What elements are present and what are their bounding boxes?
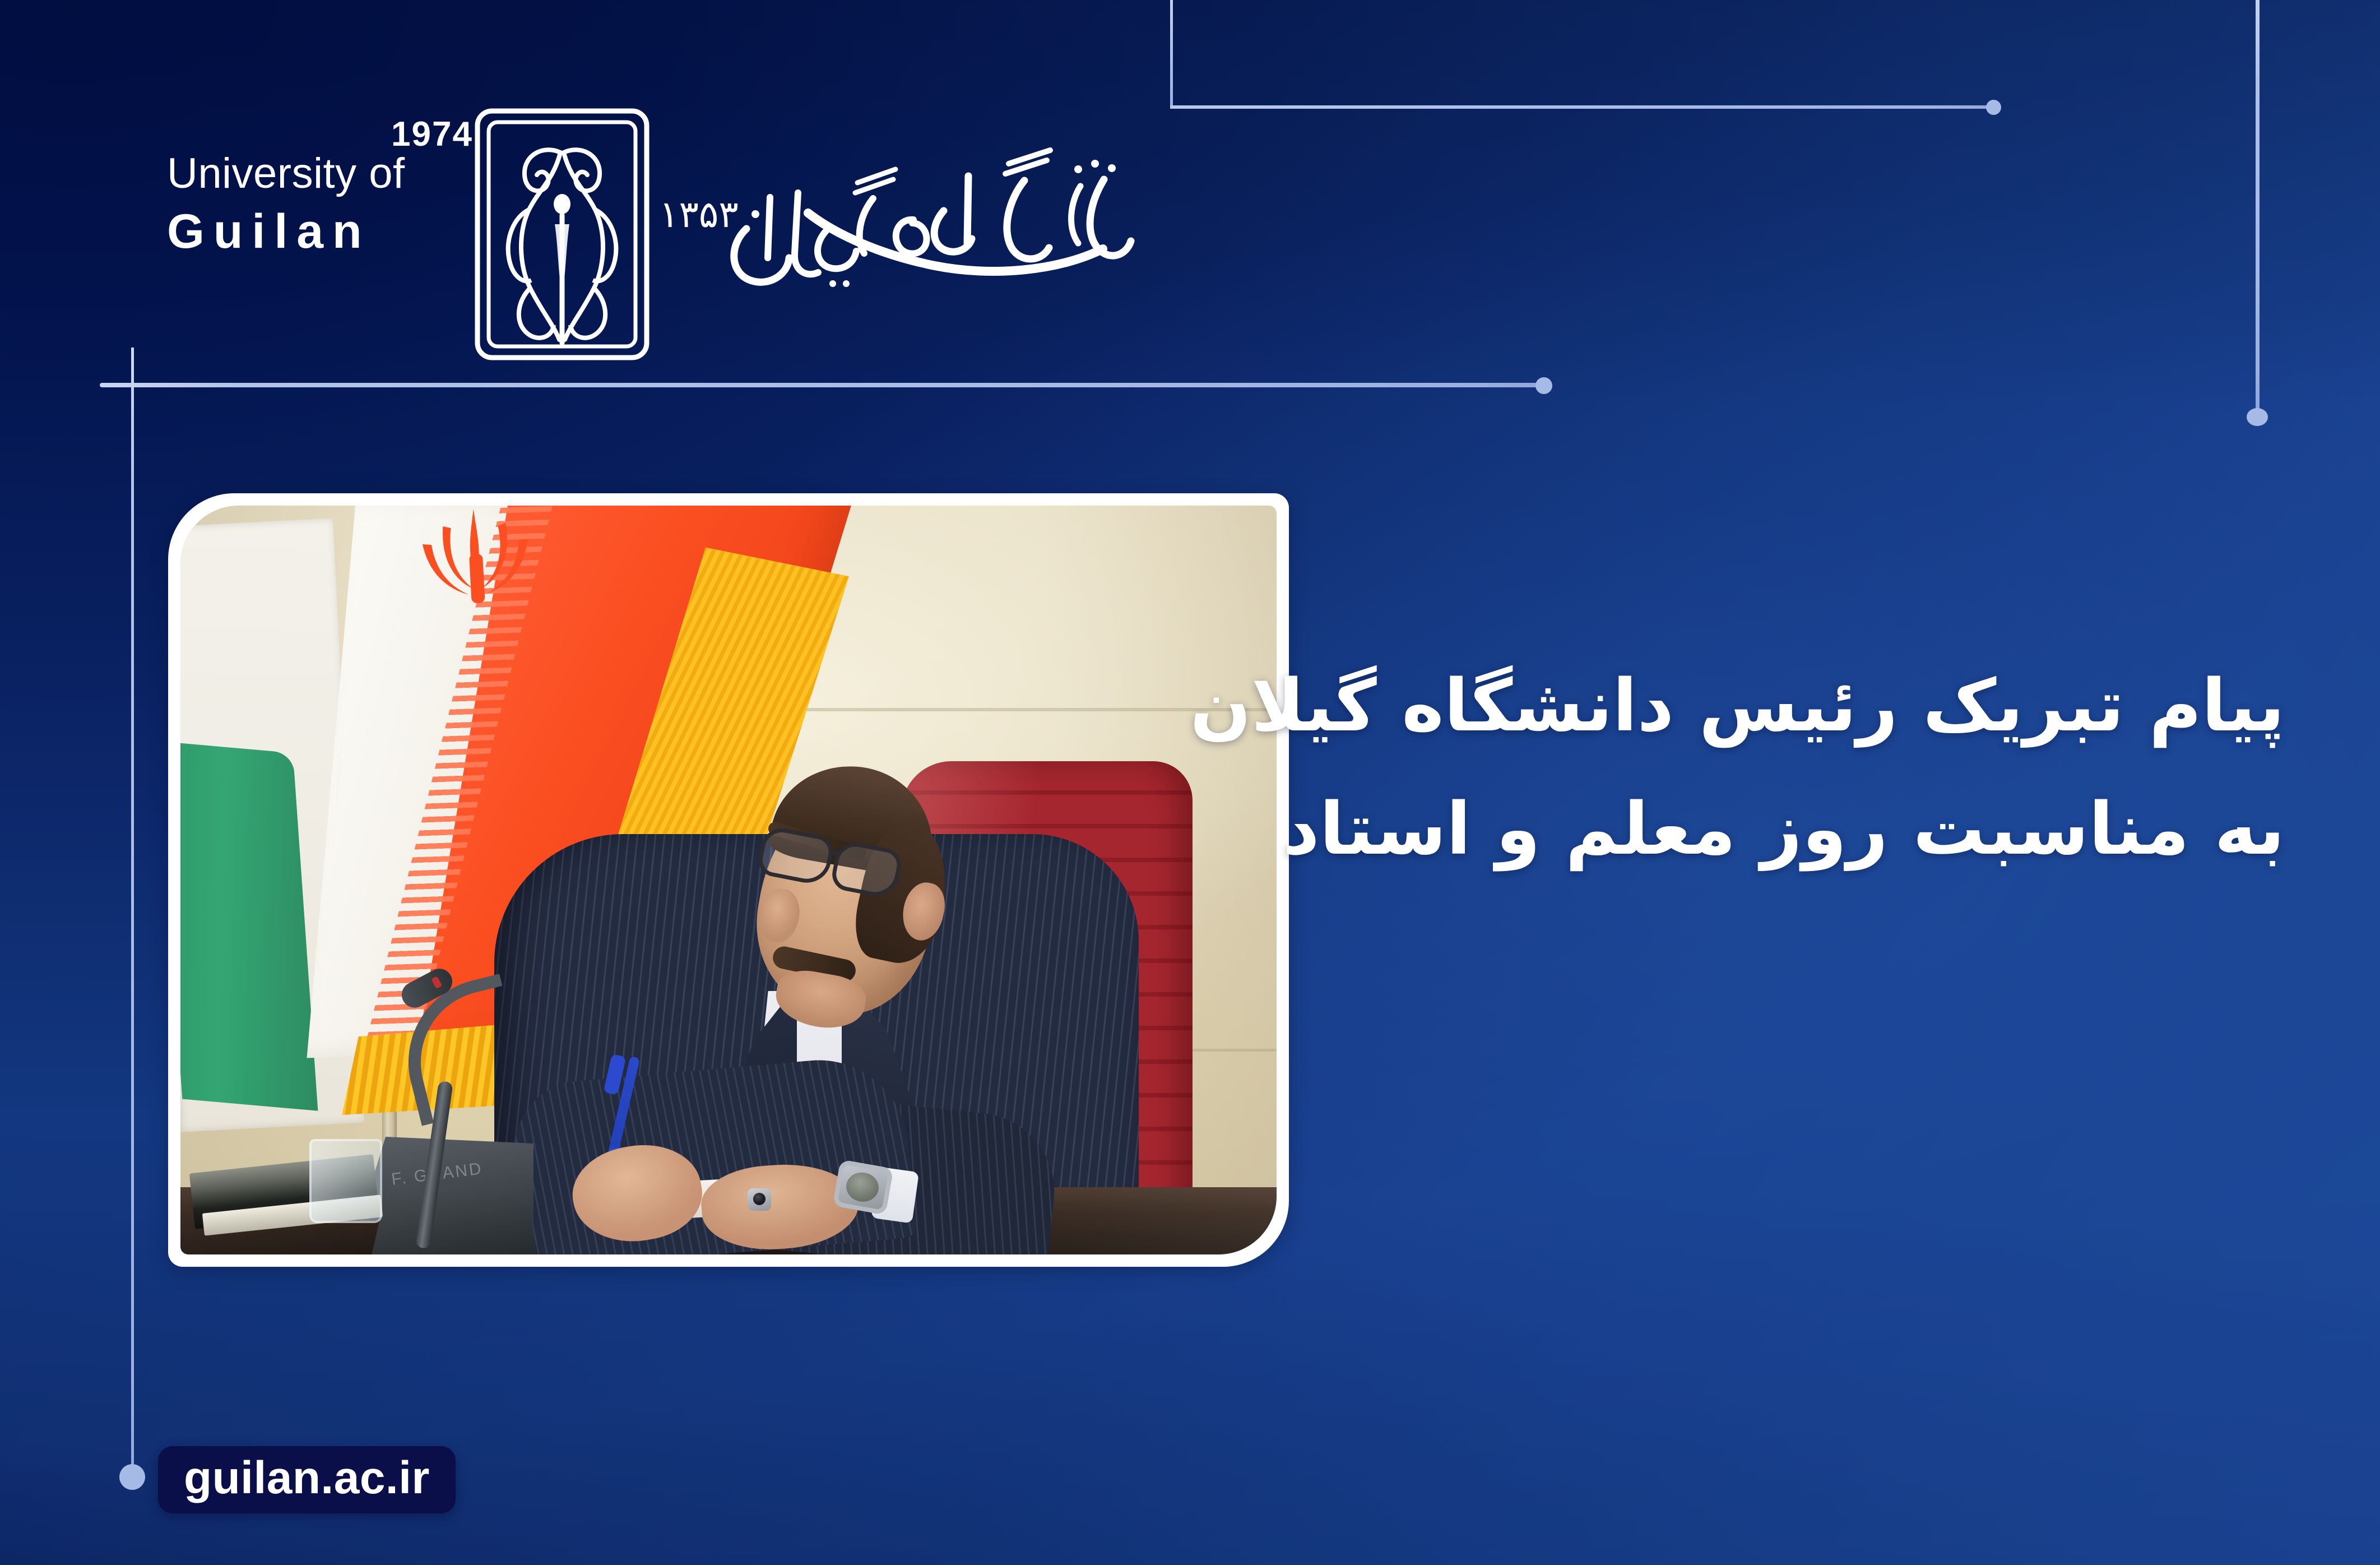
finger-ring (748, 1188, 771, 1211)
wristwatch-icon (832, 1159, 893, 1215)
website-url-badge[interactable]: guilan.ac.ir (158, 1446, 456, 1513)
line-end-dot (1535, 377, 1552, 394)
president-signing-photo: F. GRAND (180, 506, 1277, 1254)
iran-national-emblem-icon (406, 506, 547, 632)
logo-english-line1: University of (167, 152, 481, 195)
ring-stone (753, 1193, 766, 1205)
headline: پیام تبریک رئیس دانشگاه گیلان به مناسبت … (1248, 645, 2285, 891)
horizontal-accent-line (100, 383, 1547, 387)
guilan-tulip-butterfly-emblem-icon (470, 105, 655, 363)
vertical-accent-line (131, 348, 134, 1485)
right-edge-vertical-line (2256, 0, 2260, 411)
headline-line-2: به مناسبت روز معلم و استاد (1248, 768, 2285, 891)
headline-line-1: پیام تبریک رئیس دانشگاه گیلان (1248, 645, 2285, 768)
photo-card: F. GRAND (168, 493, 1289, 1267)
website-url-text: guilan.ac.ir (184, 1455, 430, 1501)
corner-bracket-vertical-line (1170, 0, 1173, 108)
line-end-dot (119, 1464, 145, 1490)
line-end-dot (2247, 408, 2268, 426)
logo-persian-name-calligraphy (688, 139, 1136, 307)
water-glass (309, 1139, 382, 1223)
university-logo: 1974 University of Guilan ۱۳۵۳ (167, 124, 1142, 360)
announcement-banner: 1974 University of Guilan ۱۳۵۳ (0, 0, 2380, 1565)
logo-year-gregorian: 1974 (391, 114, 473, 154)
logo-english-line2: Guilan (167, 207, 481, 256)
logo-english-text: University of Guilan (167, 152, 481, 256)
microphone-indicator (431, 976, 442, 989)
corner-bracket-horizontal-line (1170, 105, 1994, 109)
line-end-dot (1986, 100, 2001, 115)
microphone-base (371, 1185, 539, 1254)
watch-face (844, 1170, 881, 1204)
